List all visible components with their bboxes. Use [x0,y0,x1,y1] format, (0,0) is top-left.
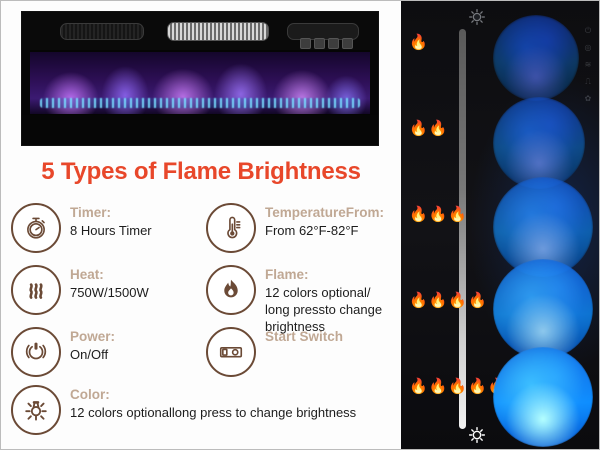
flame-icon: 🔥 [409,35,428,50]
flame-preview-orb [493,347,593,447]
product-image [21,11,379,146]
fireplace-bottom-bezel [22,115,378,145]
feature-value: 750W/1500W [70,284,149,301]
flame-icon [206,265,256,315]
flame-preview-orb [493,259,593,359]
feature-label: Start Switch [265,329,343,346]
timer-icon [11,203,61,253]
infographic-root: 5 Types of Flame Brightness Timer: 8 Hou… [0,0,600,450]
feature-value: From 62°F-82°F [265,222,384,239]
vent-grille-icon [60,23,144,40]
feature-power: Power: On/Off [11,327,196,377]
flame-count-indicator: 🔥🔥🔥 [409,207,467,222]
feature-color: Color: 12 colors optionallong press to c… [11,385,401,435]
flame-icon: ⎍ [585,78,591,86]
flame-icon: 🔥 [409,379,428,394]
flame-icon: 🔥 [468,379,487,394]
flame-icon: 🔥 [429,121,448,136]
feature-timer: Timer: 8 Hours Timer [11,203,196,253]
feature-value: 12 colors optionallong press to change b… [70,404,356,421]
power-icon: ⏻ [585,27,591,35]
brightness-panel: 🔥🔥🔥🔥🔥🔥🔥🔥🔥🔥🔥🔥🔥🔥🔥 ⏻ ◎ ≋ ⎍ ✿ [401,1,599,449]
feature-heat: Heat: 750W/1500W [11,265,196,315]
remote-icon-strip: ⏻ ◎ ≋ ⎍ ✿ [581,27,595,103]
feature-value: 8 Hours Timer [70,222,152,239]
ember-bed-icon [40,98,360,108]
timer-icon: ◎ [585,44,592,52]
feature-start-switch: Start Switch [206,327,401,377]
feature-value: On/Off [70,346,115,363]
feature-label: Heat: [70,267,149,284]
flame-icon: 🔥 [429,207,448,222]
flame-count-indicator: 🔥 [409,35,428,50]
feature-label: Timer: [70,205,152,222]
page-title: 5 Types of Flame Brightness [1,158,401,186]
flame-icon: 🔥 [448,207,467,222]
flame-icon: 🔥 [448,293,467,308]
flame-icon: 🔥 [429,379,448,394]
rocker-switch-icon [206,327,256,377]
flame-preview-orb [493,97,585,189]
feature-temperature: TemperatureFrom: From 62°F-82°F [206,203,401,253]
feature-flame: Flame: 12 colors optional/ long pressto … [206,265,401,335]
flame-count-indicator: 🔥🔥🔥🔥 [409,293,487,308]
thermometer-icon [206,203,256,253]
heater-outlet-icon [167,22,269,41]
flame-icon: 🔥 [409,207,428,222]
feature-label: Flame: [265,267,382,284]
flame-icon: 🔥 [409,293,428,308]
power-icon [11,327,61,377]
heat-waves-icon [11,265,61,315]
left-panel: 5 Types of Flame Brightness Timer: 8 Hou… [1,1,401,449]
control-panel-icon [287,23,359,40]
light-bulb-icon [11,385,61,435]
feature-label: TemperatureFrom: [265,205,384,222]
feature-label: Color: [70,387,356,404]
heat-icon: ≋ [585,61,592,69]
flame-icon: 🔥 [409,121,428,136]
color-icon: ✿ [585,95,592,103]
flame-display [30,52,370,114]
flame-count-indicator: 🔥🔥 [409,121,447,136]
flame-preview-orb [493,15,579,101]
feature-list: Timer: 8 Hours Timer TemperatureFrom: [1,199,401,449]
flame-count-indicator: 🔥🔥🔥🔥🔥 [409,379,506,394]
flame-icon: 🔥 [448,379,467,394]
fireplace-top-bezel [22,12,378,50]
feature-label: Power: [70,329,115,346]
flame-icon: 🔥 [429,293,448,308]
flame-icon: 🔥 [468,293,487,308]
